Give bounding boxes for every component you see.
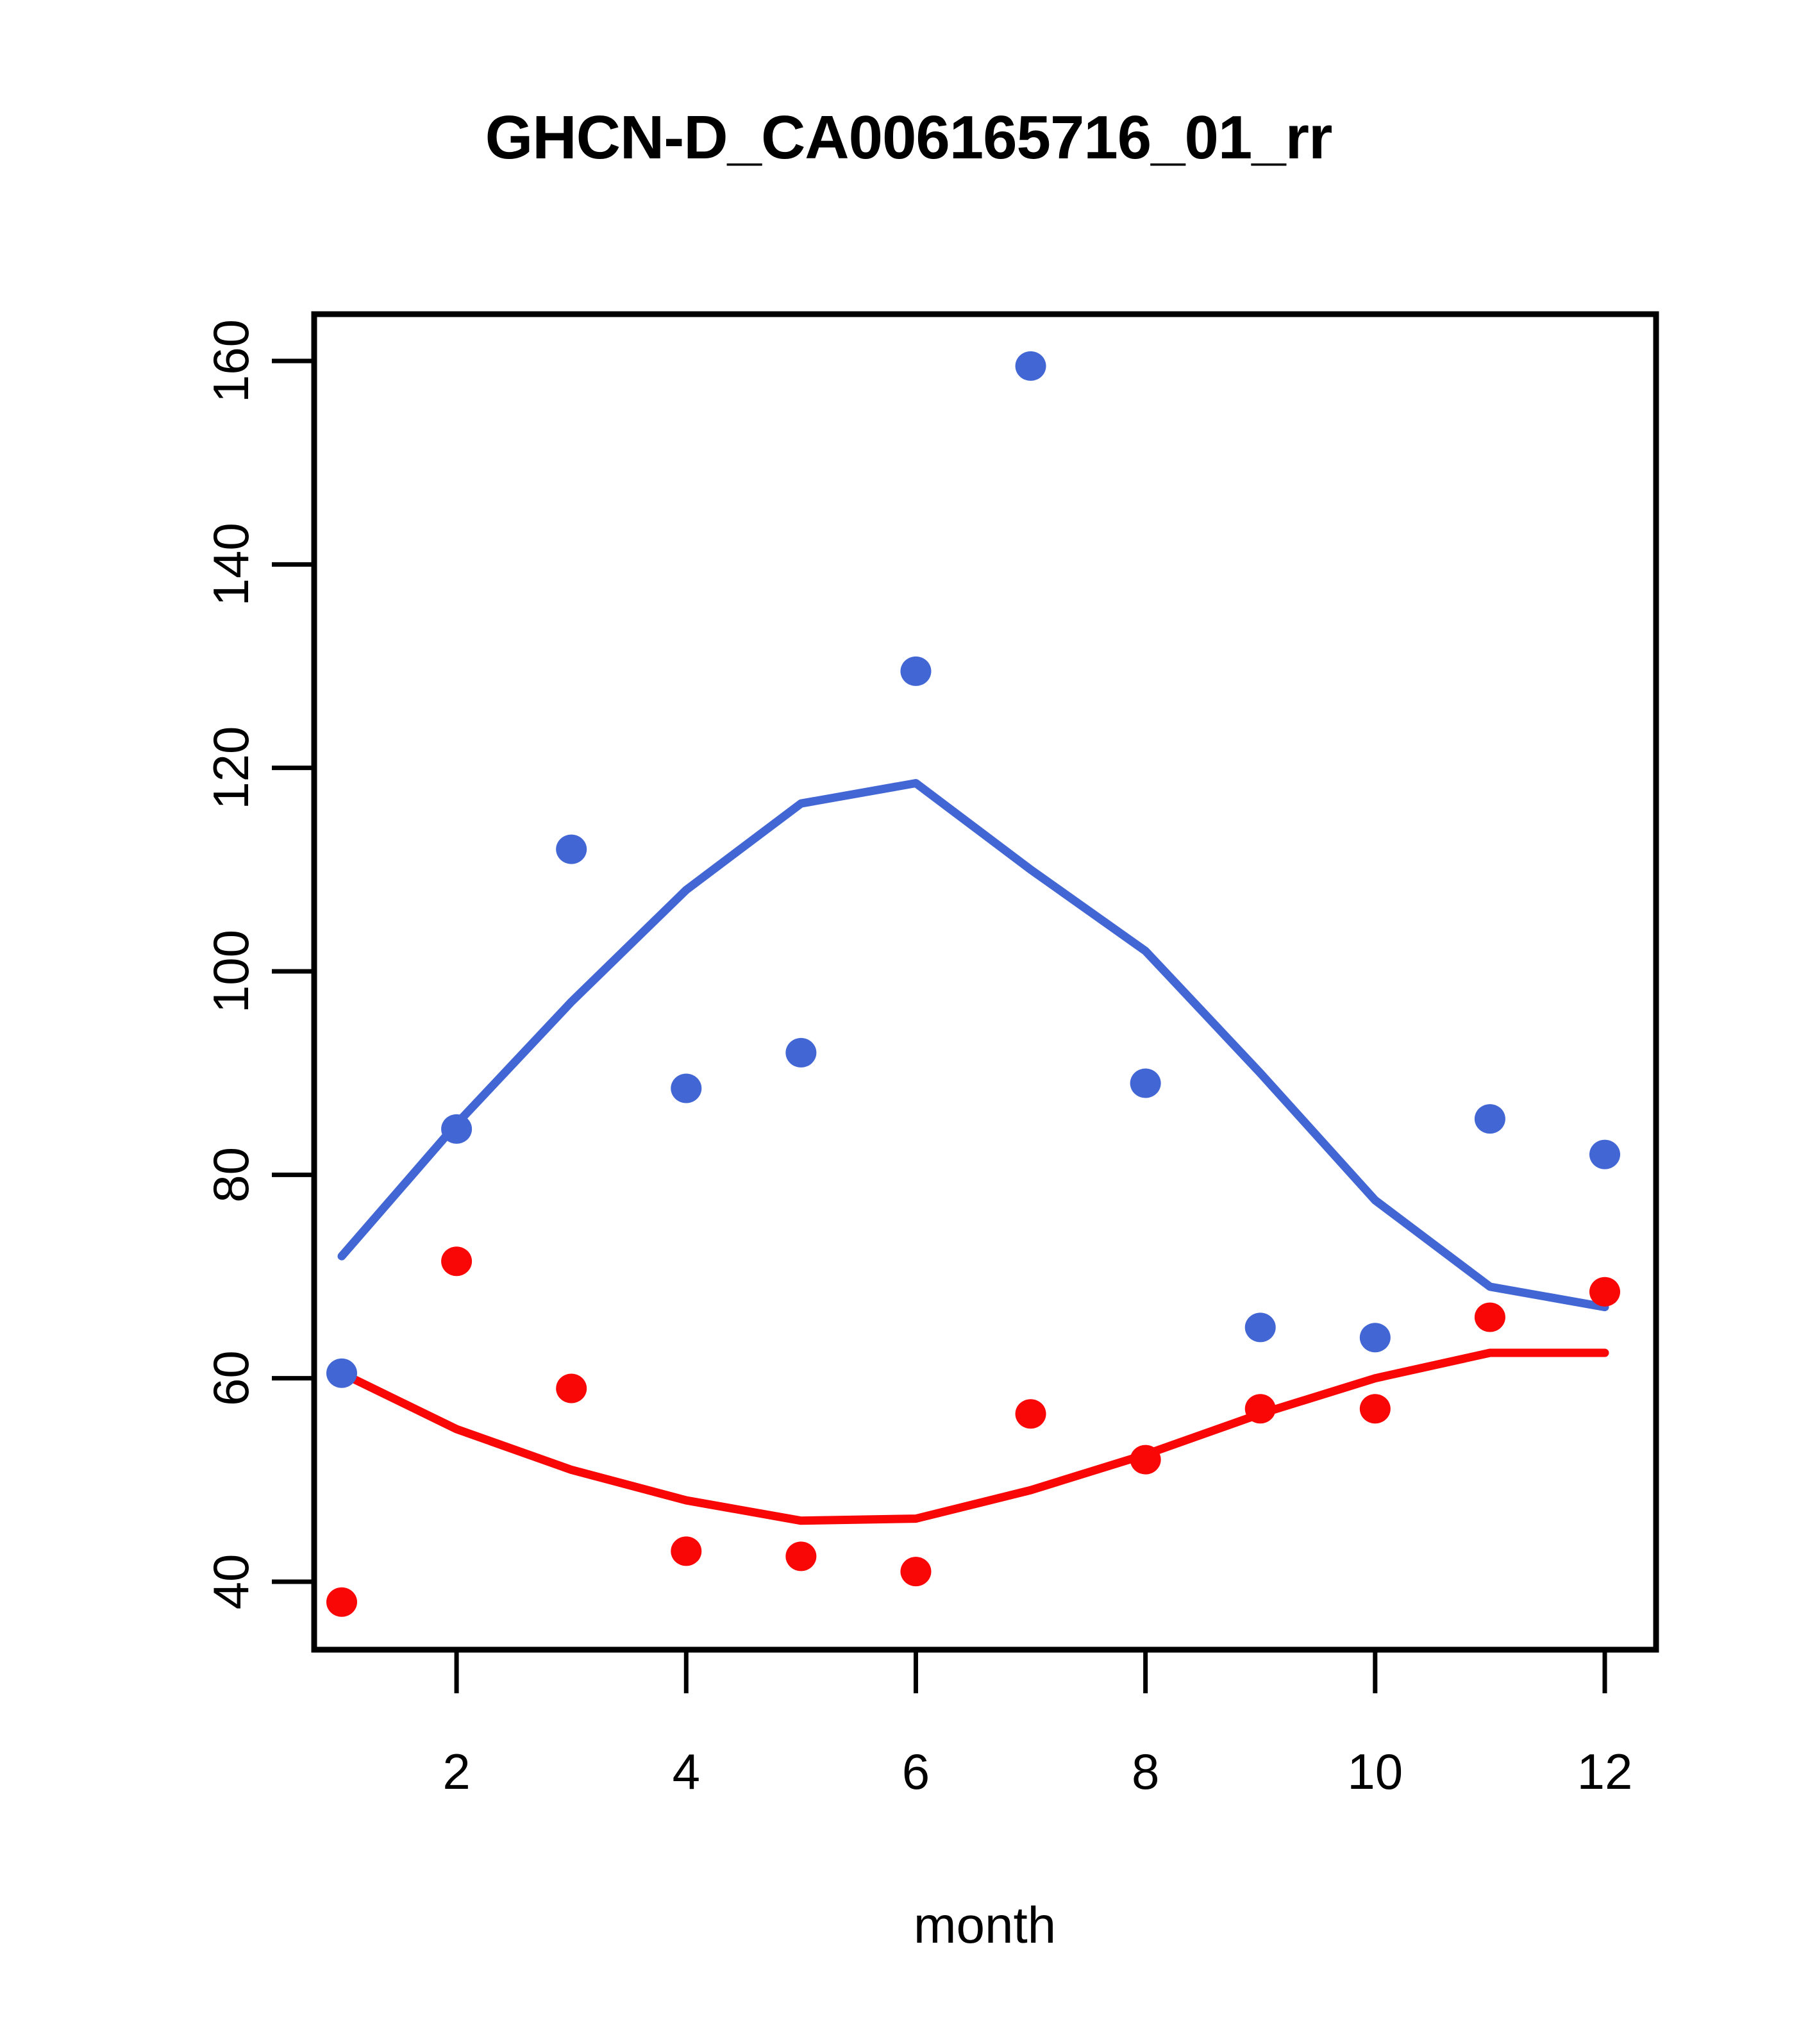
data-point-blue-points	[441, 1114, 472, 1144]
data-point-blue-points	[326, 1359, 357, 1388]
series-line-blue-line	[342, 783, 1605, 1307]
data-point-blue-points	[1360, 1323, 1391, 1352]
y-tick-label: 120	[203, 726, 259, 810]
x-tick-label: 6	[902, 1743, 930, 1800]
data-point-blue-points	[1589, 1140, 1620, 1169]
data-point-red-points	[1589, 1277, 1620, 1307]
data-point-blue-points	[671, 1073, 701, 1103]
plot-area: 406080100120140160 24681012 month	[0, 0, 1817, 2044]
data-point-blue-points	[785, 1038, 816, 1068]
data-point-red-points	[671, 1536, 701, 1566]
x-axis-title: month	[914, 1897, 1056, 1954]
data-point-blue-points	[1245, 1312, 1276, 1342]
x-tick-label: 12	[1577, 1743, 1633, 1800]
data-point-red-points	[326, 1587, 357, 1617]
x-axis: 24681012	[442, 1650, 1632, 1800]
y-tick-label: 80	[203, 1147, 259, 1203]
data-point-blue-points	[556, 835, 587, 864]
x-tick-label: 10	[1347, 1743, 1403, 1800]
y-tick-label: 140	[203, 523, 259, 606]
x-tick-label: 2	[442, 1743, 470, 1800]
x-tick-label: 8	[1132, 1743, 1159, 1800]
data-point-red-points	[1016, 1399, 1046, 1428]
y-axis: 406080100120140160	[203, 319, 314, 1609]
data-point-red-points	[1475, 1302, 1505, 1332]
data-point-red-points	[785, 1541, 816, 1571]
data-point-blue-points	[1016, 351, 1046, 381]
data-point-red-points	[556, 1374, 587, 1403]
data-point-red-points	[1245, 1394, 1276, 1423]
data-series-group	[326, 351, 1620, 1617]
data-point-red-points	[900, 1557, 931, 1586]
data-point-red-points	[1360, 1394, 1391, 1423]
data-point-blue-points	[900, 657, 931, 686]
y-tick-label: 160	[203, 319, 259, 403]
y-tick-label: 100	[203, 930, 259, 1013]
x-tick-label: 4	[673, 1743, 700, 1800]
series-line-red-line	[342, 1353, 1605, 1521]
data-point-red-points	[1130, 1445, 1161, 1475]
chart-page: GHCN-D_CA006165716_01_rr 406080100120140…	[0, 0, 1817, 2044]
y-tick-label: 60	[203, 1350, 259, 1406]
data-point-blue-points	[1475, 1104, 1505, 1134]
data-point-blue-points	[1130, 1069, 1161, 1098]
data-point-red-points	[441, 1246, 472, 1276]
y-tick-label: 40	[203, 1554, 259, 1610]
